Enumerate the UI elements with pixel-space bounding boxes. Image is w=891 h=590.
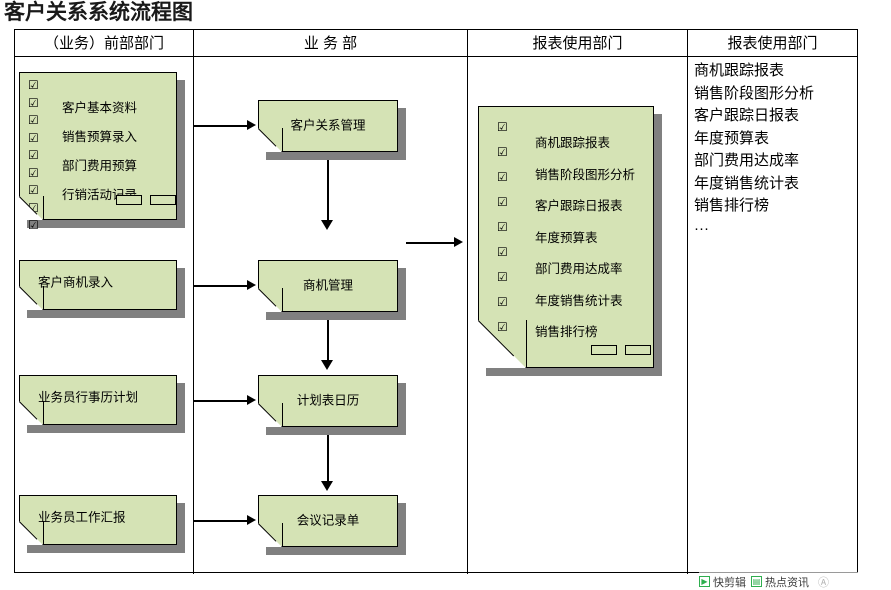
list-item: 销售阶段图形分析 — [535, 164, 635, 183]
list-item: 销售排行榜 — [535, 321, 635, 340]
doc-body: ☑ ☑ ☑ ☑ ☑ ☑ ☑ ☑ ☑ 客户基本资料 销售预算录入 部门费用预算 行… — [19, 72, 177, 220]
column-divider-2 — [467, 30, 468, 574]
report-list: 商机跟踪报表 销售阶段图形分析 客户跟踪日报表 年度预算表 部门费用达成率 年度… — [694, 60, 814, 240]
doc-salesperson-calendar-plan[interactable]: 业务员行事历计划 — [19, 375, 177, 425]
fold-corner-edge — [282, 288, 283, 312]
footer-label: 热点资讯 — [765, 574, 809, 590]
connector-line-5 — [406, 242, 456, 244]
column-divider-3 — [687, 30, 688, 574]
mini-button[interactable] — [591, 345, 617, 355]
checkbox-checked-icon: ☑ — [497, 171, 508, 183]
list-item: 部门费用达成率 — [535, 258, 635, 277]
connector-vline-3 — [327, 435, 329, 483]
doc-customer-opportunity-entry[interactable]: 客户商机录入 — [19, 260, 177, 310]
checkbox-checked-icon: ☑ — [497, 146, 508, 158]
table-header-row: （业务）前部部门 业 务 部 报表使用部门 报表使用部门 — [15, 30, 857, 57]
checkbox-column: ☑ ☑ ☑ ☑ ☑ ☑ ☑ ☑ ☑ — [497, 121, 508, 333]
list-item: 销售排行榜 — [694, 195, 814, 218]
connector-varrow-2 — [321, 360, 333, 370]
doc-schedule-calendar[interactable]: 计划表日历 — [258, 375, 398, 427]
fold-corner-edge — [43, 401, 44, 425]
checkbox-checked-icon: ☑ — [28, 184, 39, 196]
doc-body: 商机管理 — [258, 260, 398, 312]
fold-corner-edge — [282, 128, 283, 152]
checkbox-checked-icon: ☑ — [497, 271, 508, 283]
doc-body: 会议记录单 — [258, 495, 398, 547]
doc-body: 客户关系管理 — [258, 100, 398, 152]
connector-line-4 — [193, 520, 249, 522]
checklist-labels: 客户基本资料 销售预算录入 部门费用预算 行销活动记录 — [62, 97, 137, 203]
fold-corner-edge — [526, 320, 527, 368]
footer-toolbar[interactable]: ▶ 快剪辑 ▤ 热点资讯 Ⓐ — [699, 572, 858, 590]
checkbox-checked-icon: ☑ — [497, 196, 508, 208]
doc-button-bar[interactable] — [591, 345, 651, 355]
doc-body: 计划表日历 — [258, 375, 398, 427]
list-item: 客户基本资料 — [62, 97, 137, 116]
list-item: 部门费用达成率 — [694, 150, 814, 173]
connector-arrow-3 — [247, 395, 256, 405]
doc-body: ☑ ☑ ☑ ☑ ☑ ☑ ☑ ☑ ☑ 商机跟踪报表 销售阶段图形分析 客户跟踪日报… — [478, 106, 654, 368]
list-item: 年度预算表 — [535, 227, 635, 246]
connector-line-1 — [193, 125, 249, 127]
checkbox-checked-icon: ☑ — [28, 149, 39, 161]
list-item: 销售预算录入 — [62, 126, 137, 145]
connector-arrow-2 — [247, 280, 256, 290]
play-icon: ▶ — [699, 576, 710, 587]
checkbox-checked-icon: ☑ — [497, 296, 508, 308]
mini-button[interactable] — [625, 345, 651, 355]
mini-button[interactable] — [150, 195, 176, 205]
doc-crm-management[interactable]: 客户关系管理 — [258, 100, 398, 152]
news-icon: ▤ — [751, 576, 762, 587]
checkbox-checked-icon: ☑ — [28, 167, 39, 179]
doc-customer-input-checklist[interactable]: ☑ ☑ ☑ ☑ ☑ ☑ ☑ ☑ ☑ 客户基本资料 销售预算录入 部门费用预算 行… — [19, 72, 177, 220]
column-header-business: 业 务 部 — [194, 30, 467, 57]
doc-opportunity-management[interactable]: 商机管理 — [258, 260, 398, 312]
list-item: 销售阶段图形分析 — [694, 83, 814, 106]
checkbox-checked-icon: ☑ — [497, 221, 508, 233]
doc-body: 业务员行事历计划 — [19, 375, 177, 425]
doc-label: 业务员行事历计划 — [38, 387, 138, 406]
list-item: 客户跟踪日报表 — [694, 105, 814, 128]
list-item: 商机跟踪报表 — [694, 60, 814, 83]
checkbox-checked-icon: ☑ — [28, 132, 39, 144]
doc-meeting-minutes[interactable]: 会议记录单 — [258, 495, 398, 547]
list-item: 年度预算表 — [694, 128, 814, 151]
circle-a-icon: Ⓐ — [818, 574, 829, 590]
column-header-report-list: 报表使用部门 — [688, 30, 857, 57]
fold-corner-edge — [282, 523, 283, 547]
checkbox-checked-icon: ☑ — [28, 114, 39, 126]
doc-body: 客户商机录入 — [19, 260, 177, 310]
mini-button[interactable] — [116, 195, 142, 205]
checkbox-checked-icon: ☑ — [28, 79, 39, 91]
doc-label: 客户商机录入 — [38, 272, 113, 291]
connector-arrow-1 — [247, 120, 256, 130]
checkbox-checked-icon: ☑ — [28, 219, 39, 231]
list-item: 客户跟踪日报表 — [535, 195, 635, 214]
report-checklist-labels: 商机跟踪报表 销售阶段图形分析 客户跟踪日报表 年度预算表 部门费用达成率 年度… — [535, 132, 635, 340]
list-item: 年度销售统计表 — [535, 290, 635, 309]
connector-vline-2 — [327, 320, 329, 362]
footer-item-hot-news[interactable]: ▤ 热点资讯 — [751, 574, 809, 590]
connector-arrow-5 — [454, 237, 463, 247]
connector-arrow-4 — [247, 515, 256, 525]
fold-corner-edge — [282, 403, 283, 427]
list-item: 年度销售统计表 — [694, 173, 814, 196]
list-item: 商机跟踪报表 — [535, 132, 635, 151]
connector-varrow-3 — [321, 481, 333, 491]
fold-corner-edge — [43, 196, 44, 220]
connector-line-2 — [193, 285, 249, 287]
doc-button-bar[interactable] — [116, 195, 176, 205]
connector-vline-1 — [327, 160, 329, 222]
column-divider-1 — [193, 30, 194, 574]
checkbox-checked-icon: ☑ — [28, 97, 39, 109]
list-item: 部门费用预算 — [62, 155, 137, 174]
fold-corner-edge — [43, 521, 44, 545]
column-header-report-use: 报表使用部门 — [468, 30, 687, 57]
doc-label: 业务员工作汇报 — [38, 507, 126, 526]
list-item: ··· — [694, 218, 814, 241]
doc-report-output-checklist[interactable]: ☑ ☑ ☑ ☑ ☑ ☑ ☑ ☑ ☑ 商机跟踪报表 销售阶段图形分析 客户跟踪日报… — [478, 106, 654, 368]
page-title: 客户关系系统流程图 — [4, 0, 193, 26]
doc-body: 业务员工作汇报 — [19, 495, 177, 545]
connector-line-3 — [193, 400, 249, 402]
footer-label: 快剪辑 — [713, 574, 746, 590]
doc-salesperson-work-report[interactable]: 业务员工作汇报 — [19, 495, 177, 545]
column-header-front-dept: （业务）前部部门 — [15, 30, 193, 57]
footer-item-quick-edit[interactable]: ▶ 快剪辑 — [699, 574, 746, 590]
fold-corner-edge — [43, 286, 44, 310]
checkbox-checked-icon: ☑ — [497, 246, 508, 258]
checkbox-checked-icon: ☑ — [497, 121, 508, 133]
connector-varrow-1 — [321, 220, 333, 230]
